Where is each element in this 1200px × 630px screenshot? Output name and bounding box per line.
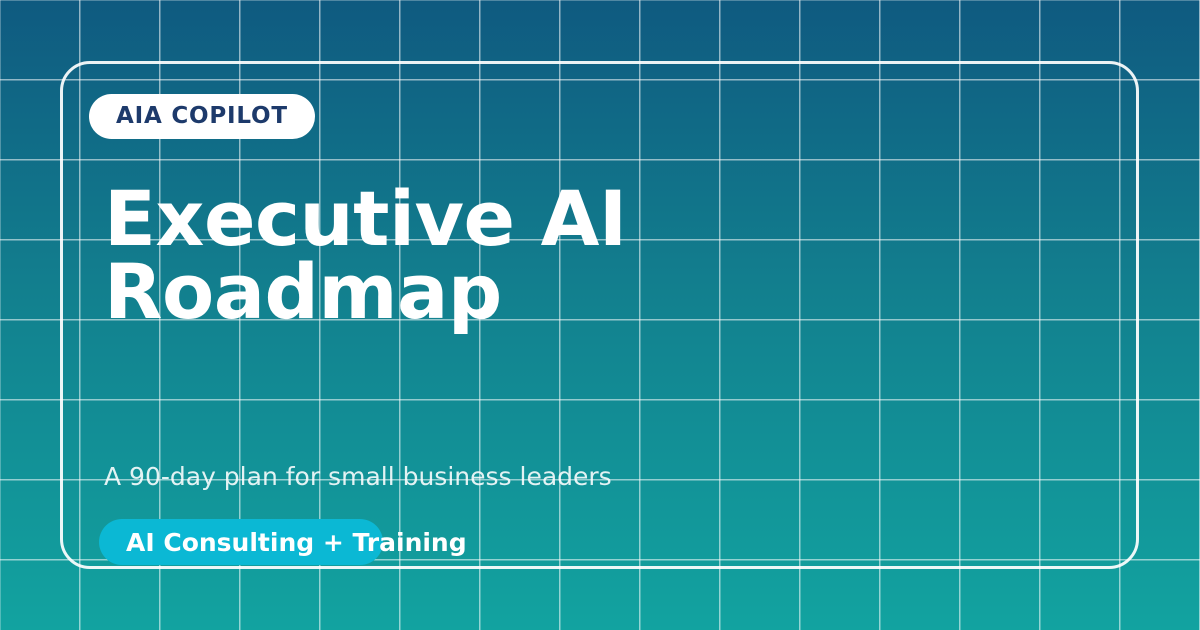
social-card-canvas: AIA COPILOT Executive AI Roadmap A 90-da…: [0, 0, 1200, 630]
category-tag-label: AI Consulting + Training: [126, 519, 467, 565]
brand-badge: AIA COPILOT: [89, 94, 315, 139]
card-subtitle: A 90-day plan for small business leaders: [104, 461, 612, 493]
card-content: AIA COPILOT Executive AI Roadmap A 90-da…: [0, 0, 1200, 630]
brand-badge-label: AIA COPILOT: [116, 105, 288, 128]
card-title: Executive AI Roadmap: [104, 182, 904, 328]
category-tag: AI Consulting + Training: [99, 519, 383, 565]
